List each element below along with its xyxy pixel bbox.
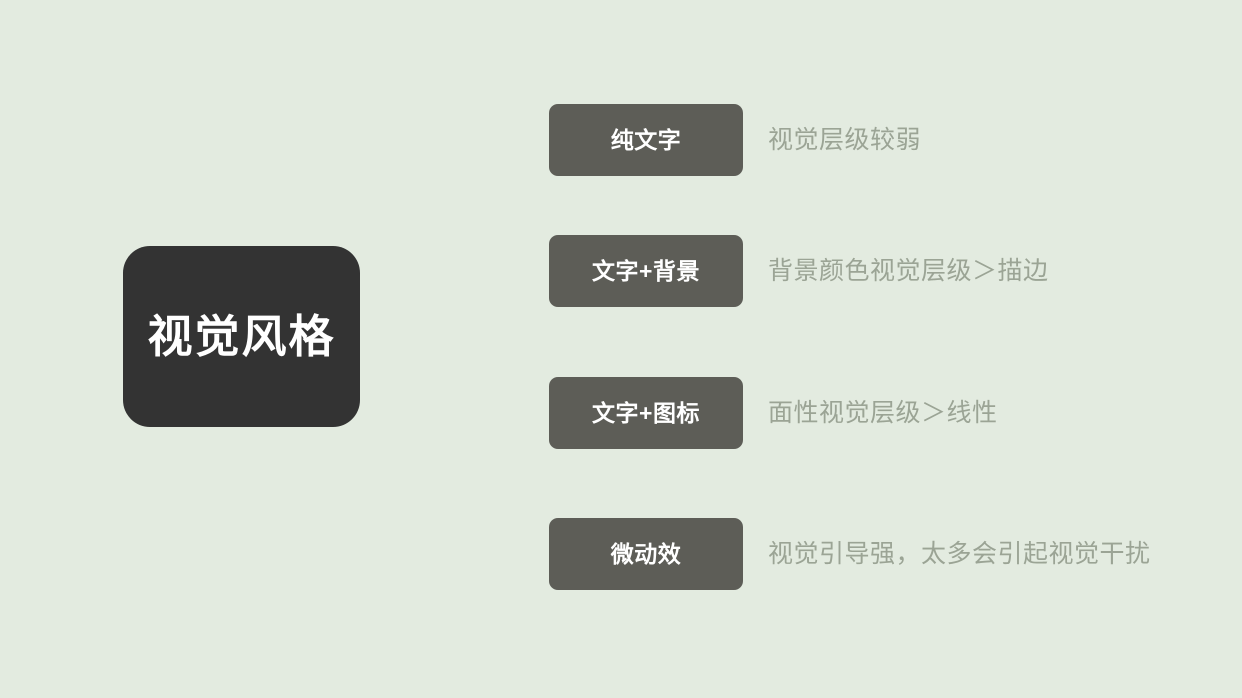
list-item: 文字+图标 面性视觉层级＞线性: [549, 377, 1209, 449]
style-chip-micro-animation[interactable]: 微动效: [549, 518, 743, 590]
slide-canvas: 视觉风格 纯文字 视觉层级较弱 文字+背景 背景颜色视觉层级＞描边 文字+图标 …: [0, 0, 1242, 698]
main-concept-title: 视觉风格: [147, 314, 335, 359]
list-item: 文字+背景 背景颜色视觉层级＞描边: [549, 235, 1209, 307]
style-chip-text-icon[interactable]: 文字+图标: [549, 377, 743, 449]
style-chip-label: 纯文字: [611, 129, 682, 152]
style-chip-pure-text[interactable]: 纯文字: [549, 104, 743, 176]
list-item: 微动效 视觉引导强，太多会引起视觉干扰: [549, 518, 1209, 590]
list-item: 纯文字 视觉层级较弱: [549, 104, 1209, 176]
style-description: 面性视觉层级＞线性: [768, 401, 998, 426]
style-chip-text-background[interactable]: 文字+背景: [549, 235, 743, 307]
style-description: 视觉引导强，太多会引起视觉干扰: [768, 542, 1151, 567]
style-chip-label: 微动效: [611, 543, 682, 566]
style-chip-label: 文字+背景: [592, 260, 700, 283]
style-description: 背景颜色视觉层级＞描边: [768, 259, 1049, 284]
style-description: 视觉层级较弱: [768, 128, 921, 153]
style-chip-label: 文字+图标: [592, 402, 700, 425]
main-concept-card: 视觉风格: [123, 246, 360, 427]
